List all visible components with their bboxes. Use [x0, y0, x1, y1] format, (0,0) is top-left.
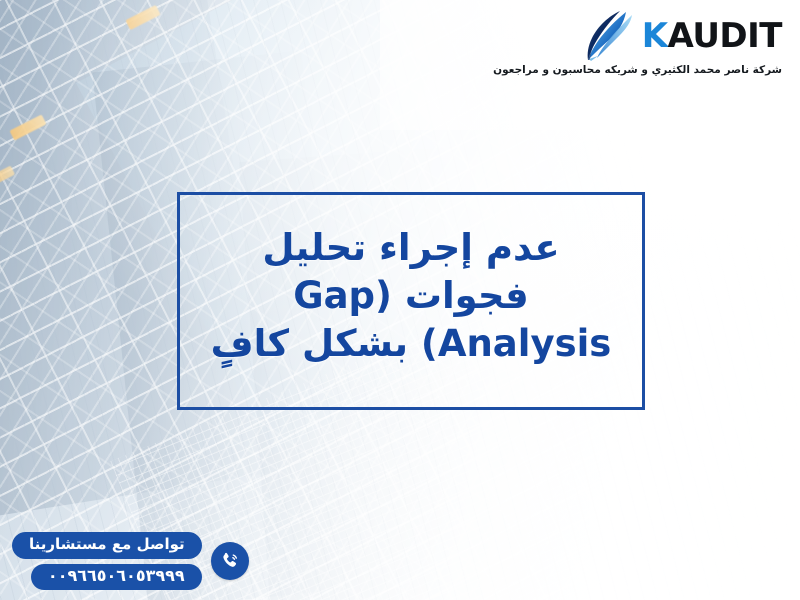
phone-ringing-icon[interactable]	[211, 542, 249, 580]
logo-lockup: KAUDIT	[582, 10, 782, 62]
headline-frame: عدم إجراء تحليل فجوات (Gap Analysis) بشك…	[177, 192, 645, 410]
logo-wordmark: KAUDIT	[642, 19, 782, 53]
brand-logo: KAUDIT شركة ناصر محمد الكثيري و شريكه مح…	[582, 10, 782, 76]
logo-letter-k: K	[642, 16, 668, 56]
phone-number-button[interactable]: ٠٠٩٦٦٥٠٦٠٥٣٩٩٩	[31, 564, 202, 590]
contact-bar[interactable]: تواصل مع مستشارينا ٠٠٩٦٦٥٠٦٠٥٣٩٩٩	[12, 532, 249, 590]
contact-pills: تواصل مع مستشارينا ٠٠٩٦٦٥٠٦٠٥٣٩٩٩	[12, 532, 202, 590]
logo-tagline: شركة ناصر محمد الكثيري و شريكه محاسبون و…	[582, 64, 782, 76]
logo-word-audit: AUDIT	[668, 16, 782, 56]
social-media-card: KAUDIT شركة ناصر محمد الكثيري و شريكه مح…	[0, 0, 800, 600]
contact-cta-button[interactable]: تواصل مع مستشارينا	[12, 532, 202, 559]
page-title: عدم إجراء تحليل فجوات (Gap Analysis) بشك…	[180, 224, 642, 378]
quill-feather-icon	[582, 10, 640, 62]
